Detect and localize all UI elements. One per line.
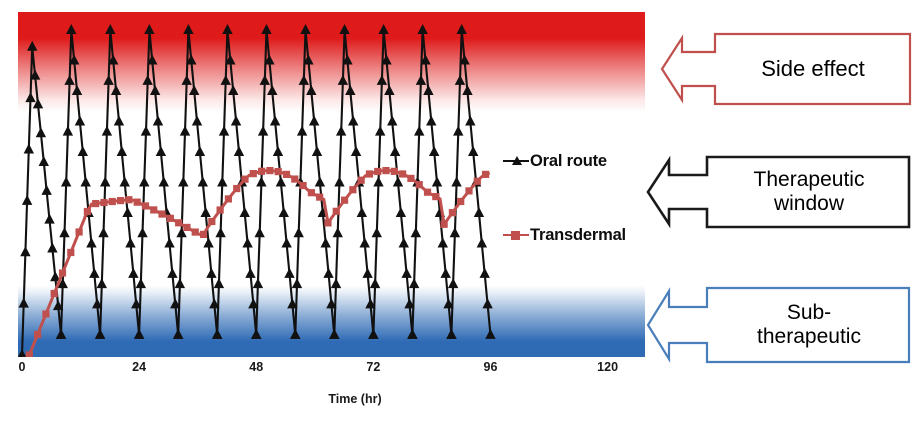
legend-item-oral-route: Oral route bbox=[503, 148, 653, 174]
legend-label-transdermal: Transdermal bbox=[530, 226, 626, 245]
x-tick-96: 96 bbox=[484, 360, 498, 374]
legend-item-transdermal: Transdermal bbox=[503, 222, 653, 248]
square-marker-icon bbox=[503, 228, 529, 242]
callout-side-effect: Side effect bbox=[660, 30, 912, 108]
x-tick-72: 72 bbox=[366, 360, 380, 374]
x-axis-ticks: 024487296120 bbox=[18, 360, 645, 382]
chart-legend: Oral route Transdermal bbox=[503, 148, 653, 248]
legend-label-oral-route: Oral route bbox=[530, 152, 607, 171]
x-tick-120: 120 bbox=[597, 360, 618, 374]
callout-label-therapeutic-window: Therapeuticwindow bbox=[707, 154, 911, 230]
callout-label-sub-therapeutic: Sub-therapeutic bbox=[707, 285, 911, 365]
triangle-marker-icon bbox=[503, 154, 529, 168]
x-tick-24: 24 bbox=[132, 360, 146, 374]
x-tick-48: 48 bbox=[249, 360, 263, 374]
callout-therapeutic-window: Therapeuticwindow bbox=[645, 154, 912, 230]
callout-sub-therapeutic: Sub-therapeutic bbox=[645, 285, 912, 365]
x-tick-0: 0 bbox=[19, 360, 26, 374]
callout-label-side-effect: Side effect bbox=[715, 30, 911, 108]
x-axis-title: Time (hr) bbox=[0, 392, 710, 406]
chart-figure: 024487296120 Time (hr) Oral route Transd… bbox=[0, 0, 919, 429]
